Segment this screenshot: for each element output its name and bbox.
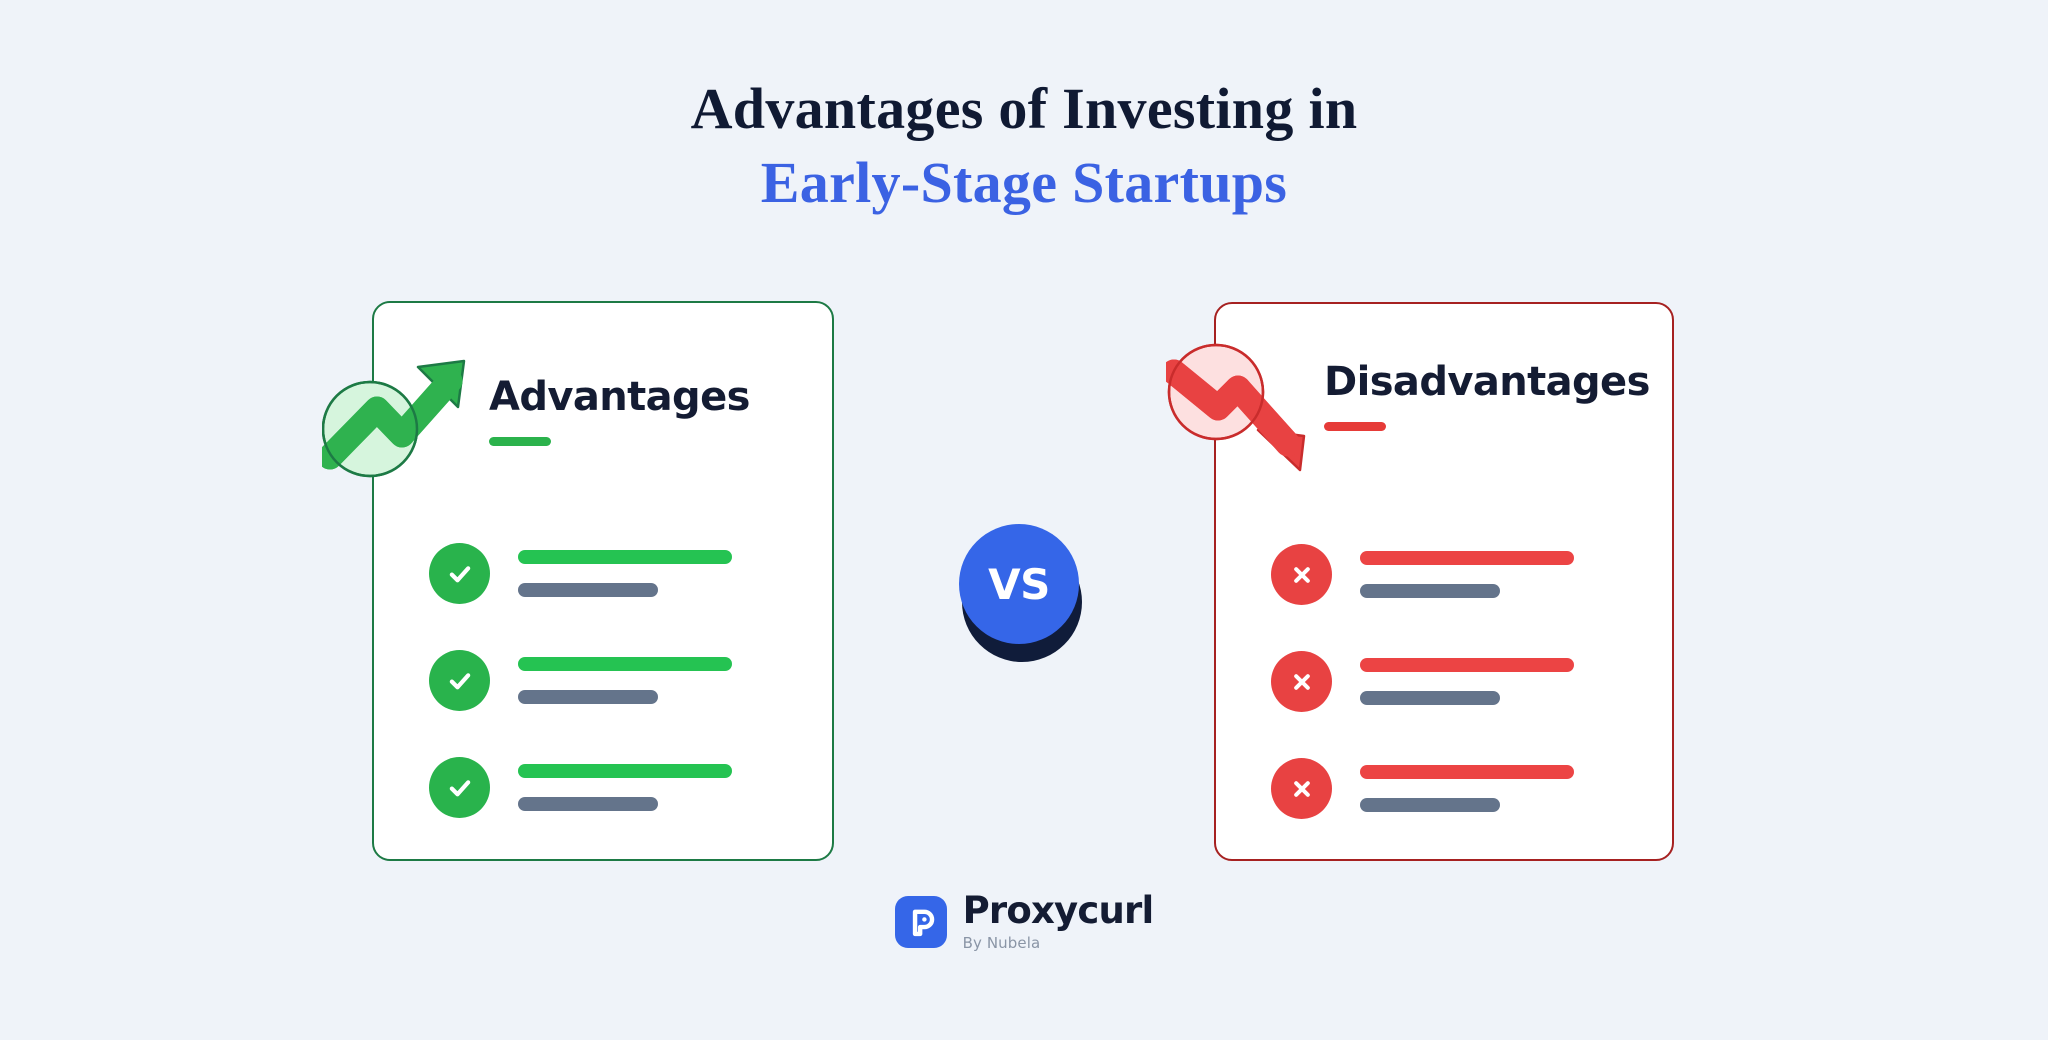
disadvantages-heading: Disadvantages <box>1324 362 1650 402</box>
check-icon <box>429 543 490 604</box>
advantages-heading-underline <box>489 437 551 446</box>
list-item[interactable] <box>429 543 769 650</box>
list-item-secondary-bar <box>518 583 658 597</box>
page-title-line-1: Advantages of Investing in <box>0 72 2048 146</box>
vs-badge-label: VS <box>988 560 1050 609</box>
list-item-secondary-bar <box>518 690 658 704</box>
check-icon <box>429 757 490 818</box>
list-item[interactable] <box>1271 544 1611 651</box>
list-item-bars <box>518 550 732 597</box>
cross-icon <box>1271 651 1332 712</box>
list-item-primary-bar <box>518 657 732 671</box>
page-title-line-2: Early-Stage Startups <box>0 146 2048 220</box>
list-item-bars <box>518 657 732 704</box>
check-icon <box>429 650 490 711</box>
list-item-secondary-bar <box>1360 691 1500 705</box>
list-item-secondary-bar <box>518 797 658 811</box>
trending-up-arrow-icon <box>322 347 497 487</box>
advantages-header-text: Advantages <box>489 377 750 446</box>
vs-badge-circle: VS <box>959 524 1079 644</box>
list-item-bars <box>1360 551 1574 598</box>
list-item[interactable] <box>1271 651 1611 758</box>
advantages-heading: Advantages <box>489 377 750 417</box>
list-item-secondary-bar <box>1360 798 1500 812</box>
list-item[interactable] <box>429 650 769 757</box>
list-item-bars <box>1360 765 1574 812</box>
proxycurl-logo-name: Proxycurl <box>963 892 1154 931</box>
cross-icon <box>1271 544 1332 605</box>
list-item-primary-bar <box>1360 658 1574 672</box>
list-item[interactable] <box>429 757 769 864</box>
list-item[interactable] <box>1271 758 1611 865</box>
disadvantages-header-text: Disadvantages <box>1324 362 1650 431</box>
list-item-bars <box>1360 658 1574 705</box>
disadvantages-card: Disadvantages <box>1214 302 1674 861</box>
vs-badge: VS <box>959 524 1087 662</box>
advantages-card: Advantages <box>372 301 834 861</box>
list-item-secondary-bar <box>1360 584 1500 598</box>
advantages-card-header: Advantages <box>374 355 832 485</box>
list-item-primary-bar <box>1360 765 1574 779</box>
list-item-primary-bar <box>518 550 732 564</box>
proxycurl-logo[interactable]: Proxycurl By Nubela <box>0 892 2048 952</box>
proxycurl-logo-text: Proxycurl By Nubela <box>963 892 1154 952</box>
disadvantages-list <box>1271 544 1611 865</box>
list-item-bars <box>518 764 732 811</box>
trending-down-arrow-icon <box>1166 334 1341 474</box>
list-item-primary-bar <box>518 764 732 778</box>
advantages-list <box>429 543 769 864</box>
proxycurl-logo-subtitle: By Nubela <box>963 934 1154 952</box>
disadvantages-card-header: Disadvantages <box>1216 356 1672 486</box>
cross-icon <box>1271 758 1332 819</box>
disadvantages-heading-underline <box>1324 422 1386 431</box>
page-title: Advantages of Investing in Early-Stage S… <box>0 72 2048 220</box>
list-item-primary-bar <box>1360 551 1574 565</box>
proxycurl-logo-mark-icon <box>895 896 947 948</box>
